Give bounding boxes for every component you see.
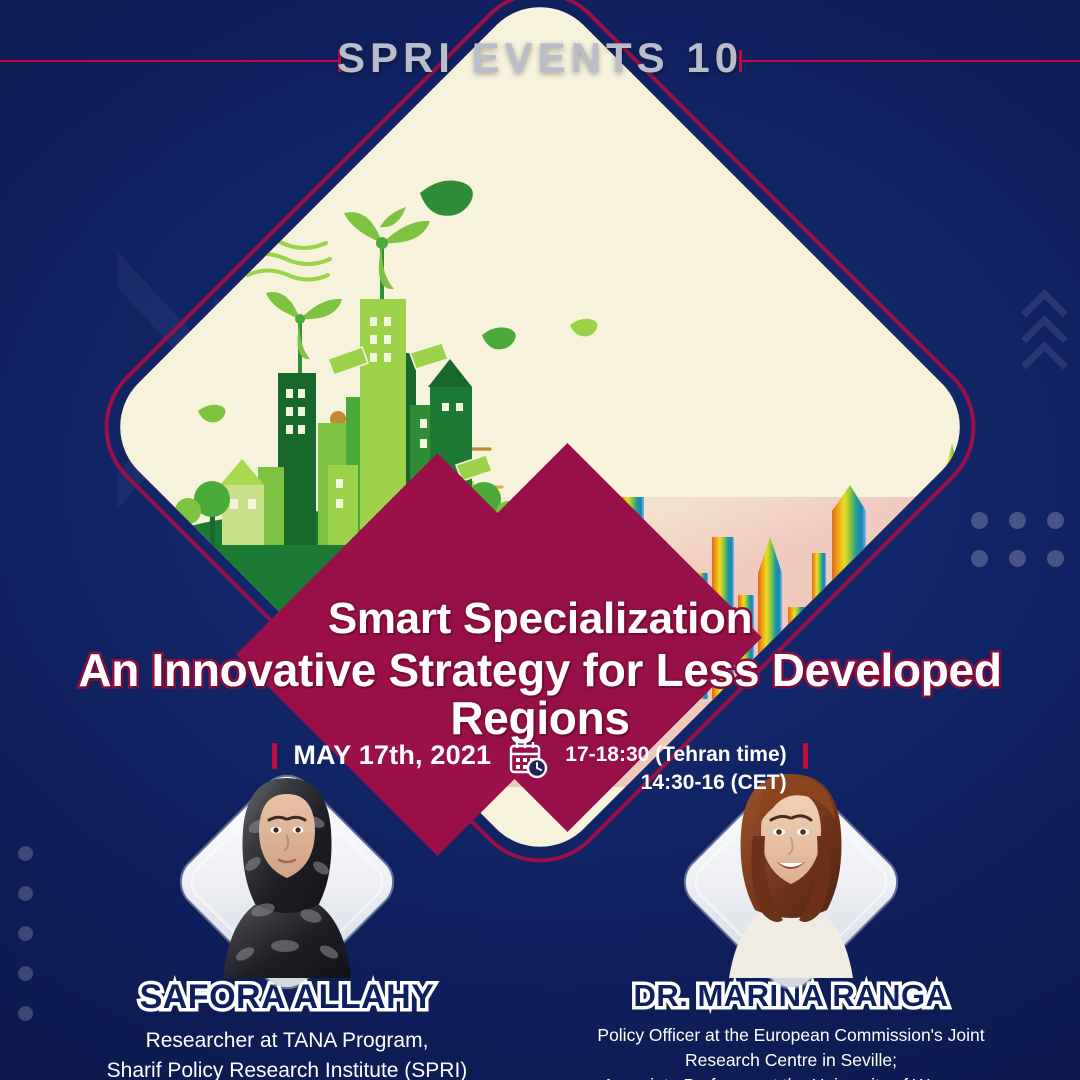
bird-icon [570, 319, 597, 337]
header-rule-right [740, 60, 1080, 62]
dot-column-cell [18, 966, 33, 981]
dot-grid-cell [1047, 550, 1064, 567]
speaker-role-line-1: Researcher at TANA Program, [72, 1026, 502, 1056]
event-meta: MAY 17th, 2021 [0, 736, 1080, 798]
speaker-role-2: Policy Officer at the European Commissio… [576, 1023, 1006, 1080]
speaker-role-1: Researcher at TANA Program, Sharif Polic… [72, 1026, 502, 1080]
speaker-role-line-1: Policy Officer at the European Commissio… [576, 1023, 1006, 1073]
event-title-line-1: Smart Specialization [0, 596, 1080, 642]
poster-header: SPRI EVENTS 10 [0, 0, 1080, 118]
dot-column-cell [18, 926, 33, 941]
calendar-clock-icon [507, 738, 549, 785]
event-times: 17-18:30 (Tehran time) 14:30-16 (CET) [565, 741, 786, 798]
speaker-card-1: SAFORA ALLAHY Researcher at TANA Program… [72, 782, 502, 1080]
caret-up-icon [1021, 341, 1068, 388]
dot-grid-cell [1009, 550, 1026, 567]
event-title: Smart Specialization An Innovative Strat… [0, 596, 1080, 742]
meta-bar-left [272, 743, 277, 769]
bird-icon [482, 327, 516, 349]
bird-icon [198, 405, 225, 423]
event-date: MAY 17th, 2021 [293, 740, 491, 771]
dot-grid-cell [971, 512, 988, 529]
speaker-role-line-2: Sharif Policy Research Institute (SPRI) [72, 1056, 502, 1080]
event-time-primary: 17-18:30 (Tehran time) [565, 741, 786, 769]
meta-bar-right [803, 743, 808, 769]
dot-column-cell [18, 1006, 33, 1021]
dot-column-cell [18, 846, 33, 861]
event-poster: SPRI EVENTS 10 [0, 0, 1080, 1080]
speaker-photo-frame-1 [187, 782, 387, 982]
event-title-line-2: An Innovative Strategy for Less Develope… [0, 647, 1080, 743]
speaker-role-line-2: Associate Professor at the University of… [576, 1073, 1006, 1080]
brand-title: SPRI EVENTS 10 [0, 34, 1080, 82]
bird-icon [380, 181, 473, 228]
dot-grid-cell [1047, 512, 1064, 529]
dot-column-cell [18, 886, 33, 901]
speaker-card-2: DR. MARINA RANGA Policy Officer at the E… [576, 782, 1006, 1080]
event-time-secondary: 14:30-16 (CET) [565, 769, 786, 797]
speaker-photo-frame-2 [691, 782, 891, 982]
dot-grid-cell [1009, 512, 1026, 529]
dot-grid-cell [971, 550, 988, 567]
